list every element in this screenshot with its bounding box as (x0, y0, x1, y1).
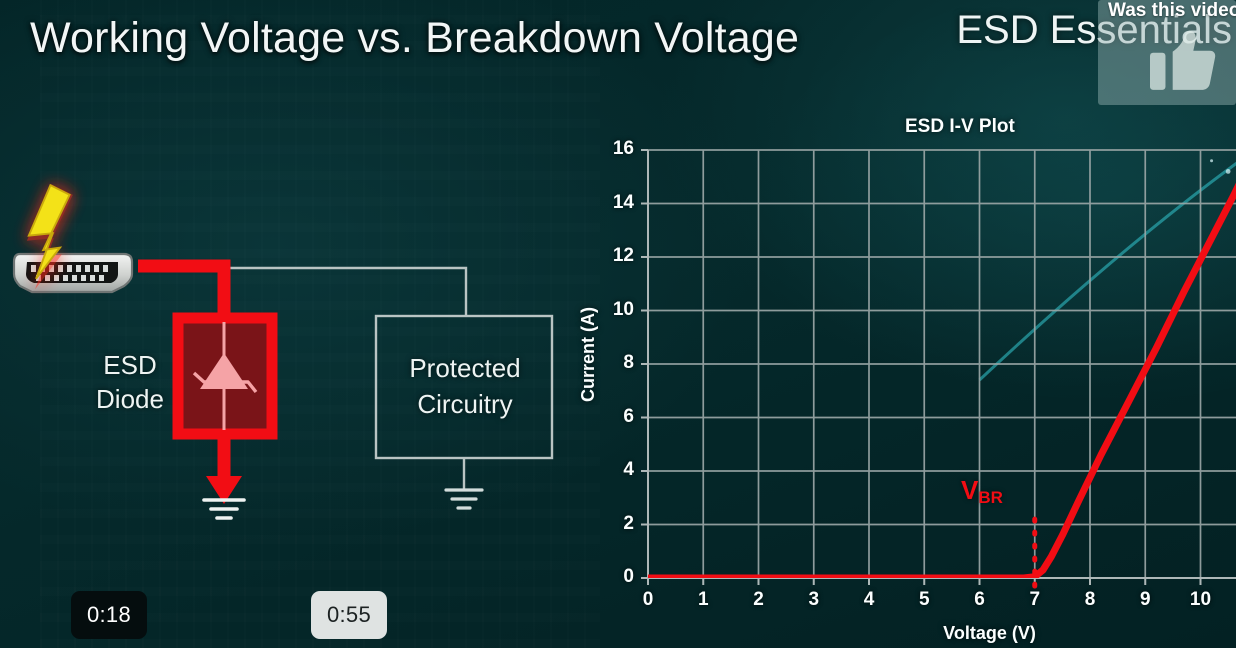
circuit-diagram: ESD Diode Protected Circuitry (0, 170, 600, 570)
x-tick-label: 8 (1073, 589, 1107, 611)
timestamp-total[interactable]: 0:55 (311, 591, 387, 639)
page-title: Working Voltage vs. Breakdown Voltage (30, 14, 799, 63)
x-tick-label: 7 (1018, 589, 1052, 611)
x-axis-title: Voltage (V) (575, 623, 1236, 644)
esd-diode-label-line2: Diode (82, 382, 178, 416)
esd-diode-component (178, 318, 272, 434)
x-tick-label: 5 (907, 589, 941, 611)
vbr-symbol: V (961, 475, 978, 505)
x-tick-label: 2 (742, 589, 776, 611)
y-tick-label: 12 (600, 245, 634, 267)
esd-iv-chart: ESD I-V Plot Current (A) Voltage (V) (575, 108, 1236, 648)
x-tick-label: 0 (631, 589, 665, 611)
ground-symbol-protected (446, 490, 482, 508)
y-tick-label: 8 (600, 352, 634, 374)
vbr-subscript: BR (978, 488, 1003, 507)
signal-wire-gray (142, 268, 466, 316)
y-tick-label: 6 (600, 406, 634, 428)
protected-circuitry-label-line1: Protected (378, 350, 552, 386)
x-tick-label: 4 (852, 589, 886, 611)
y-tick-label: 2 (600, 513, 634, 535)
x-tick-label: 6 (963, 589, 997, 611)
y-tick-label: 16 (600, 138, 634, 160)
x-tick-label: 10 (1184, 589, 1218, 611)
y-tick-label: 0 (600, 566, 634, 588)
esd-diode-label: ESD Diode (82, 348, 178, 416)
thumbs-up-icon[interactable] (1150, 30, 1216, 92)
timestamp-current[interactable]: 0:18 (71, 591, 147, 639)
hdmi-connector-icon (14, 254, 132, 292)
survey-overlay-panel[interactable]: Was this video (1098, 0, 1236, 105)
vbr-annotation-label: VBR (961, 475, 1003, 508)
y-tick-label: 10 (600, 299, 634, 321)
protected-circuitry-label: Protected Circuitry (378, 350, 552, 422)
x-tick-label: 1 (686, 589, 720, 611)
y-tick-label: 14 (600, 192, 634, 214)
survey-question-text: Was this video (1108, 0, 1236, 22)
plot-area (575, 108, 1236, 608)
x-tick-label: 9 (1128, 589, 1162, 611)
protected-circuitry-label-line2: Circuitry (378, 386, 552, 422)
x-tick-label: 3 (797, 589, 831, 611)
y-tick-label: 4 (600, 459, 634, 481)
esd-diode-label-line1: ESD (82, 348, 178, 382)
video-frame: Working Voltage vs. Breakdown Voltage ES… (0, 0, 1236, 648)
